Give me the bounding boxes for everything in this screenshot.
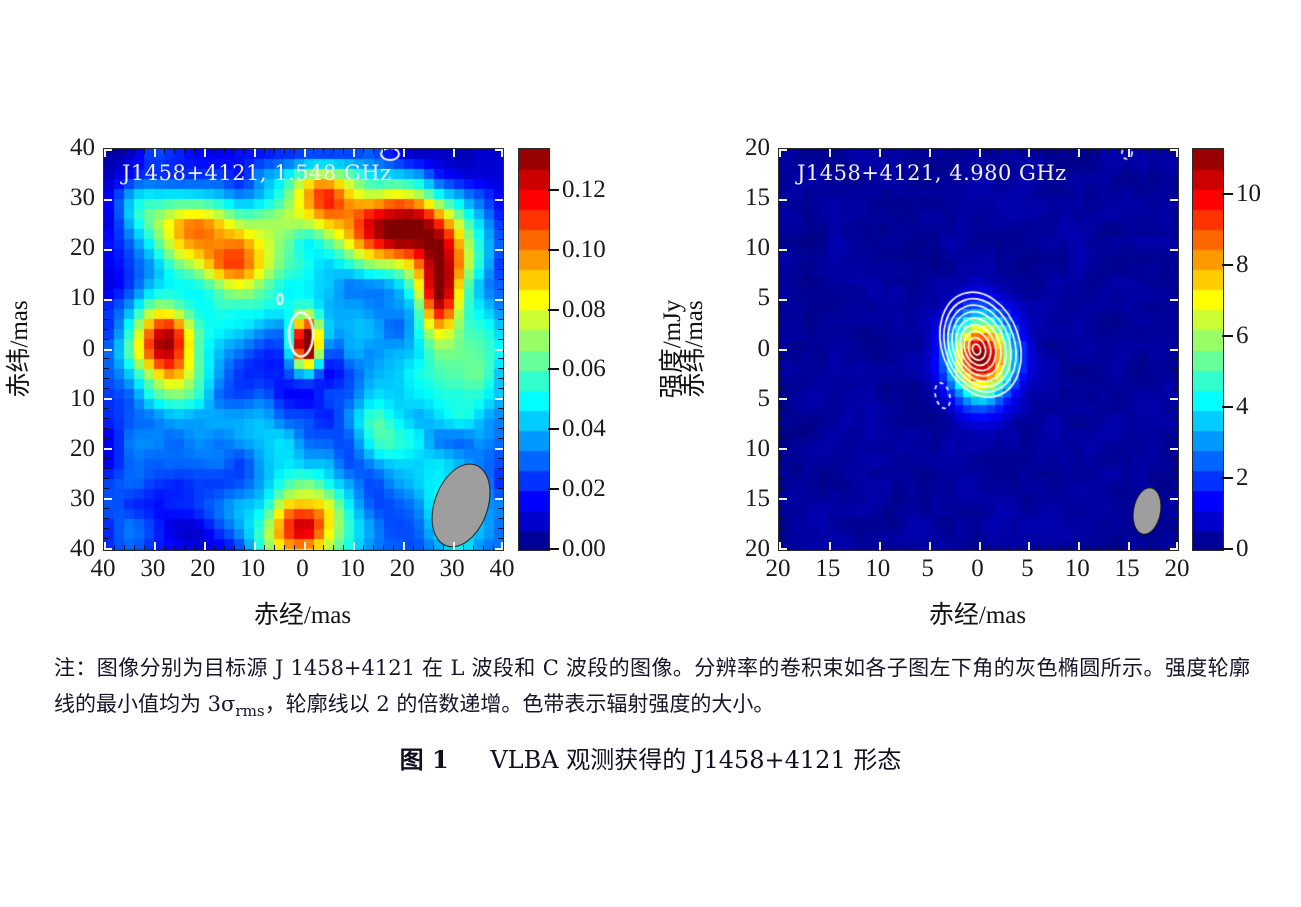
y-minor-tick: [104, 239, 109, 240]
x-major-tick: [204, 149, 206, 157]
x-minor-tick: [919, 149, 920, 154]
colorbar-gradient-left: [519, 149, 549, 550]
y-minor-tick: [779, 418, 784, 419]
y-minor-tick: [1173, 478, 1178, 479]
x-minor-tick: [383, 149, 384, 154]
x-minor-tick: [463, 149, 464, 154]
x-major-tick: [829, 542, 831, 550]
x-minor-tick: [988, 545, 989, 550]
x-major-tick: [979, 542, 981, 550]
x-minor-tick: [1158, 149, 1159, 154]
panel-title-right: J1458+4121, 4.980 GHz: [797, 161, 1067, 185]
colorbar-tick: [548, 548, 559, 550]
x-minor-tick: [333, 545, 334, 550]
y-minor-tick: [779, 219, 784, 220]
y-tick-label: 5: [722, 385, 770, 413]
colorbar-tick-label: 2: [1236, 464, 1249, 492]
y-tick-label: 30: [47, 184, 95, 212]
y-minor-tick: [779, 259, 784, 260]
colorbar-tick: [548, 309, 559, 311]
x-minor-tick: [194, 545, 195, 550]
y-minor-tick: [779, 538, 784, 539]
x-minor-tick: [274, 545, 275, 550]
x-tick-label: 5: [921, 555, 934, 583]
x-minor-tick: [343, 545, 344, 550]
x-major-tick: [453, 149, 455, 157]
colorbar-tick-label: 10: [1236, 180, 1261, 208]
x-minor-tick: [1048, 149, 1049, 154]
y-tick-label: 40: [47, 535, 95, 563]
y-minor-tick: [104, 408, 109, 409]
x-tick-label: 5: [1021, 555, 1034, 583]
x-minor-tick: [144, 149, 145, 154]
x-minor-tick: [839, 149, 840, 154]
x-minor-tick: [224, 545, 225, 550]
y-minor-tick: [1173, 329, 1178, 330]
y-minor-tick: [104, 418, 109, 419]
y-minor-tick: [779, 209, 784, 210]
x-minor-tick: [284, 149, 285, 154]
y-minor-tick: [498, 229, 503, 230]
x-minor-tick: [423, 149, 424, 154]
y-major-tick: [1170, 249, 1178, 251]
x-major-tick: [929, 149, 931, 157]
x-minor-tick: [483, 545, 484, 550]
y-minor-tick: [779, 428, 784, 429]
y-minor-tick: [1173, 388, 1178, 389]
y-major-tick: [1170, 199, 1178, 201]
y-tick-label: 20: [722, 535, 770, 563]
y-minor-tick: [779, 488, 784, 489]
x-minor-tick: [1148, 545, 1149, 550]
x-minor-tick: [174, 545, 175, 550]
x-minor-tick: [443, 545, 444, 550]
x-minor-tick: [889, 149, 890, 154]
x-axis-title: 赤经/mas: [929, 595, 1026, 631]
x-minor-tick: [1108, 149, 1109, 154]
note-text-part2: ，轮廓线以 2 的倍数递增。色带表示辐射强度的大小。: [265, 692, 775, 716]
x-minor-tick: [998, 149, 999, 154]
x-minor-tick: [493, 545, 494, 550]
x-minor-tick: [124, 149, 125, 154]
colorbar-tick: [1222, 264, 1233, 266]
x-minor-tick: [373, 545, 374, 550]
x-major-tick: [1028, 149, 1030, 157]
x-minor-tick: [323, 149, 324, 154]
y-minor-tick: [498, 458, 503, 459]
y-minor-tick: [498, 189, 503, 190]
y-axis-title: 赤纬/mas: [0, 300, 35, 397]
x-minor-tick: [433, 149, 434, 154]
y-major-tick: [1170, 299, 1178, 301]
x-minor-tick: [1068, 149, 1069, 154]
figure-caption: 图 1 VLBA 观测获得的 J1458+4121 形态: [0, 740, 1301, 775]
x-minor-tick: [473, 545, 474, 550]
x-major-tick: [403, 542, 405, 550]
y-minor-tick: [1173, 289, 1178, 290]
y-minor-tick: [104, 478, 109, 479]
y-minor-tick: [1173, 538, 1178, 539]
y-minor-tick: [1173, 428, 1178, 429]
y-minor-tick: [498, 428, 503, 429]
x-minor-tick: [164, 149, 165, 154]
x-minor-tick: [839, 545, 840, 550]
x-minor-tick: [184, 545, 185, 550]
y-minor-tick: [498, 478, 503, 479]
x-minor-tick: [1118, 149, 1119, 154]
y-tick-label: 15: [722, 485, 770, 513]
figure-number: 图 1: [400, 745, 449, 774]
y-major-tick: [779, 398, 787, 400]
y-tick-label: 20: [47, 435, 95, 463]
x-minor-tick: [809, 545, 810, 550]
x-minor-tick: [1038, 149, 1039, 154]
x-tick-label: 10: [240, 555, 265, 583]
y-minor-tick: [779, 229, 784, 230]
y-minor-tick: [498, 219, 503, 220]
x-tick-label: 20: [190, 555, 215, 583]
x-major-tick: [1128, 149, 1130, 157]
y-major-tick: [104, 149, 112, 151]
y-major-tick: [104, 249, 112, 251]
x-minor-tick: [959, 149, 960, 154]
x-minor-tick: [423, 545, 424, 550]
x-minor-tick: [1138, 149, 1139, 154]
x-minor-tick: [244, 545, 245, 550]
y-major-tick: [495, 299, 503, 301]
x-minor-tick: [1038, 545, 1039, 550]
y-minor-tick: [104, 339, 109, 340]
y-minor-tick: [1173, 269, 1178, 270]
x-major-tick: [979, 149, 981, 157]
x-minor-tick: [274, 149, 275, 154]
x-minor-tick: [959, 545, 960, 550]
x-minor-tick: [313, 149, 314, 154]
y-major-tick: [495, 349, 503, 351]
x-major-tick: [304, 542, 306, 550]
y-minor-tick: [104, 219, 109, 220]
x-minor-tick: [363, 149, 364, 154]
x-minor-tick: [789, 545, 790, 550]
y-minor-tick: [104, 209, 109, 210]
y-minor-tick: [498, 259, 503, 260]
y-minor-tick: [104, 229, 109, 230]
x-major-tick: [1176, 149, 1178, 157]
y-minor-tick: [498, 269, 503, 270]
colorbar-tick: [1222, 477, 1233, 479]
figure-caption-title: VLBA 观测获得的 J1458+4121 形态: [490, 746, 901, 774]
x-tick-label: 30: [140, 555, 165, 583]
x-minor-tick: [1048, 545, 1049, 550]
x-minor-tick: [849, 149, 850, 154]
y-major-tick: [1170, 349, 1178, 351]
x-major-tick: [353, 149, 355, 157]
y-minor-tick: [779, 508, 784, 509]
y-minor-tick: [498, 388, 503, 389]
x-minor-tick: [988, 149, 989, 154]
y-minor-tick: [104, 358, 109, 359]
x-minor-tick: [899, 149, 900, 154]
y-minor-tick: [104, 528, 109, 529]
x-minor-tick: [284, 545, 285, 550]
y-minor-tick: [779, 269, 784, 270]
y-minor-tick: [779, 388, 784, 389]
x-minor-tick: [393, 545, 394, 550]
x-minor-tick: [473, 149, 474, 154]
x-major-tick: [1128, 542, 1130, 550]
x-minor-tick: [1088, 545, 1089, 550]
y-minor-tick: [1173, 378, 1178, 379]
y-minor-tick: [779, 309, 784, 310]
x-minor-tick: [998, 545, 999, 550]
x-minor-tick: [1138, 545, 1139, 550]
x-minor-tick: [1058, 149, 1059, 154]
y-minor-tick: [779, 468, 784, 469]
y-minor-tick: [1173, 279, 1178, 280]
x-minor-tick: [363, 545, 364, 550]
x-minor-tick: [313, 545, 314, 550]
x-minor-tick: [244, 149, 245, 154]
x-minor-tick: [909, 149, 910, 154]
x-minor-tick: [224, 149, 225, 154]
colorbar-tick-label: 0.04: [562, 415, 606, 443]
x-minor-tick: [819, 149, 820, 154]
y-tick-label: 10: [47, 385, 95, 413]
y-minor-tick: [779, 368, 784, 369]
y-minor-tick: [1173, 458, 1178, 459]
x-minor-tick: [134, 149, 135, 154]
y-minor-tick: [104, 438, 109, 439]
y-minor-tick: [104, 269, 109, 270]
x-minor-tick: [1008, 149, 1009, 154]
y-minor-tick: [1173, 239, 1178, 240]
x-tick-label: 0: [971, 555, 984, 583]
y-minor-tick: [498, 468, 503, 469]
y-minor-tick: [498, 378, 503, 379]
y-minor-tick: [779, 159, 784, 160]
y-minor-tick: [779, 458, 784, 459]
y-minor-tick: [779, 289, 784, 290]
y-minor-tick: [498, 538, 503, 539]
y-minor-tick: [104, 289, 109, 290]
x-minor-tick: [294, 149, 295, 154]
y-major-tick: [104, 299, 112, 301]
y-minor-tick: [779, 179, 784, 180]
x-minor-tick: [939, 545, 940, 550]
colorbar-tick: [1222, 406, 1233, 408]
colorbar-tick-label: 0.02: [562, 475, 606, 503]
x-tick-label: 20: [390, 555, 415, 583]
note-prefix: 注：: [54, 656, 97, 680]
y-major-tick: [779, 249, 787, 251]
sky-map-left: J1458+4121, 1.548 GHz: [103, 148, 504, 551]
y-minor-tick: [1173, 159, 1178, 160]
y-major-tick: [104, 548, 112, 550]
y-minor-tick: [498, 339, 503, 340]
y-minor-tick: [498, 289, 503, 290]
sky-image-right: [779, 149, 1178, 550]
x-minor-tick: [294, 545, 295, 550]
y-major-tick: [779, 299, 787, 301]
y-minor-tick: [498, 209, 503, 210]
x-tick-label: 15: [1115, 555, 1140, 583]
x-tick-label: 40: [490, 555, 515, 583]
x-minor-tick: [234, 149, 235, 154]
y-minor-tick: [1173, 438, 1178, 439]
y-minor-tick: [1173, 319, 1178, 320]
y-major-tick: [104, 398, 112, 400]
x-minor-tick: [869, 545, 870, 550]
y-tick-label: 0: [47, 335, 95, 363]
x-minor-tick: [343, 149, 344, 154]
y-minor-tick: [779, 358, 784, 359]
x-major-tick: [204, 542, 206, 550]
x-major-tick: [879, 149, 881, 157]
y-minor-tick: [498, 179, 503, 180]
y-minor-tick: [779, 518, 784, 519]
y-minor-tick: [498, 368, 503, 369]
panel-title-left: J1458+4121, 1.548 GHz: [122, 161, 392, 185]
x-major-tick: [353, 542, 355, 550]
colorbar-tick-label: 0.10: [562, 236, 606, 264]
x-minor-tick: [393, 149, 394, 154]
y-major-tick: [779, 149, 787, 151]
x-major-tick: [879, 542, 881, 550]
x-minor-tick: [1018, 545, 1019, 550]
y-major-tick: [1170, 448, 1178, 450]
x-major-tick: [254, 542, 256, 550]
x-major-tick: [154, 542, 156, 550]
y-minor-tick: [779, 528, 784, 529]
y-minor-tick: [104, 309, 109, 310]
y-major-tick: [495, 498, 503, 500]
y-minor-tick: [498, 319, 503, 320]
y-minor-tick: [779, 478, 784, 479]
x-tick-label: 10: [340, 555, 365, 583]
y-minor-tick: [104, 169, 109, 170]
x-minor-tick: [919, 545, 920, 550]
colorbar-tick-label: 0.00: [562, 535, 606, 563]
y-minor-tick: [104, 259, 109, 260]
x-minor-tick: [869, 149, 870, 154]
y-minor-tick: [498, 279, 503, 280]
x-minor-tick: [333, 149, 334, 154]
y-major-tick: [1170, 498, 1178, 500]
note-sigma-subscript: rms: [235, 702, 264, 720]
y-major-tick: [779, 199, 787, 201]
colorbar-tick: [1222, 193, 1233, 195]
x-minor-tick: [799, 545, 800, 550]
y-major-tick: [104, 199, 112, 201]
y-minor-tick: [1173, 488, 1178, 489]
x-minor-tick: [214, 545, 215, 550]
x-tick-label: 10: [1065, 555, 1090, 583]
x-major-tick: [1078, 542, 1080, 550]
y-minor-tick: [104, 388, 109, 389]
y-minor-tick: [104, 378, 109, 379]
y-minor-tick: [779, 329, 784, 330]
x-minor-tick: [264, 149, 265, 154]
colorbar-tick: [548, 368, 559, 370]
y-minor-tick: [104, 458, 109, 459]
y-major-tick: [104, 498, 112, 500]
y-minor-tick: [498, 159, 503, 160]
y-minor-tick: [498, 309, 503, 310]
figure-root: 注：图像分别为目标源 J 1458+4121 在 L 波段和 C 波段的图像。分…: [0, 0, 1301, 907]
y-major-tick: [104, 349, 112, 351]
x-minor-tick: [799, 149, 800, 154]
y-major-tick: [1170, 548, 1178, 550]
x-minor-tick: [413, 149, 414, 154]
x-minor-tick: [849, 545, 850, 550]
y-minor-tick: [779, 319, 784, 320]
y-minor-tick: [104, 518, 109, 519]
y-minor-tick: [104, 508, 109, 509]
y-minor-tick: [779, 438, 784, 439]
figure-note: 注：图像分别为目标源 J 1458+4121 在 L 波段和 C 波段的图像。分…: [54, 650, 1250, 729]
x-minor-tick: [889, 545, 890, 550]
x-minor-tick: [949, 545, 950, 550]
y-minor-tick: [104, 179, 109, 180]
x-tick-label: 10: [865, 555, 890, 583]
y-minor-tick: [498, 508, 503, 509]
x-minor-tick: [1168, 545, 1169, 550]
y-minor-tick: [104, 189, 109, 190]
colorbar-tick: [1222, 335, 1233, 337]
x-axis-title: 赤经/mas: [254, 595, 351, 631]
y-minor-tick: [1173, 408, 1178, 409]
x-minor-tick: [483, 149, 484, 154]
y-major-tick: [1170, 398, 1178, 400]
colorbar-tick-label: 8: [1236, 251, 1249, 279]
y-minor-tick: [498, 418, 503, 419]
y-minor-tick: [498, 239, 503, 240]
x-minor-tick: [433, 545, 434, 550]
x-major-tick: [453, 542, 455, 550]
y-minor-tick: [104, 488, 109, 489]
y-minor-tick: [779, 408, 784, 409]
x-minor-tick: [124, 545, 125, 550]
y-major-tick: [495, 548, 503, 550]
y-minor-tick: [1173, 368, 1178, 369]
y-minor-tick: [1173, 219, 1178, 220]
y-minor-tick: [104, 538, 109, 539]
y-major-tick: [779, 448, 787, 450]
x-minor-tick: [1118, 545, 1119, 550]
x-minor-tick: [939, 149, 940, 154]
x-minor-tick: [383, 545, 384, 550]
y-minor-tick: [104, 159, 109, 160]
x-minor-tick: [1168, 149, 1169, 154]
y-minor-tick: [1173, 179, 1178, 180]
x-minor-tick: [373, 149, 374, 154]
colorbar-tick: [548, 249, 559, 251]
y-minor-tick: [104, 428, 109, 429]
x-minor-tick: [493, 149, 494, 154]
y-minor-tick: [1173, 309, 1178, 310]
x-major-tick: [254, 149, 256, 157]
x-major-tick: [501, 149, 503, 157]
y-minor-tick: [104, 368, 109, 369]
x-minor-tick: [969, 545, 970, 550]
x-major-tick: [403, 149, 405, 157]
y-minor-tick: [1173, 259, 1178, 260]
y-minor-tick: [1173, 209, 1178, 210]
y-tick-label: 20: [47, 234, 95, 262]
x-minor-tick: [1058, 545, 1059, 550]
x-minor-tick: [134, 545, 135, 550]
x-minor-tick: [323, 545, 324, 550]
